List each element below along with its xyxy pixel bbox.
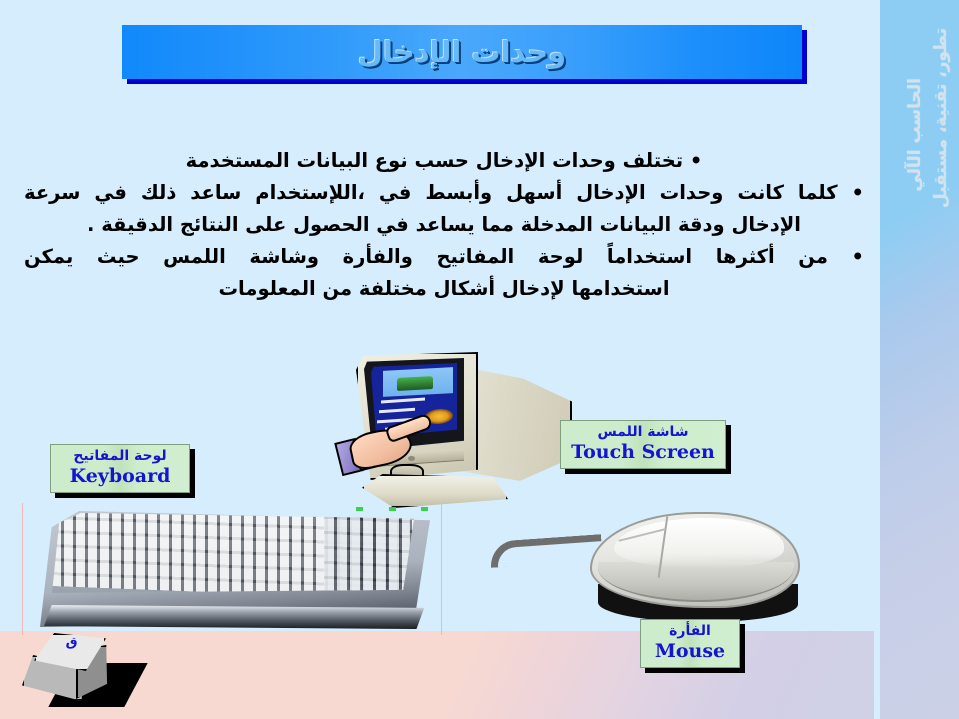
keyboard-led-scrolllock-icon bbox=[421, 507, 428, 511]
caption-touch-screen[interactable]: شاشة اللمس Touch Screen bbox=[560, 420, 726, 469]
title-bar: وحدات الإدخال bbox=[122, 25, 802, 79]
bullet-line-3-cont: استخدامها لإدخال أشكال مختلفة من المعلوم… bbox=[24, 274, 864, 304]
caption-keyboard[interactable]: لوحة المفاتيح Keyboard bbox=[50, 444, 190, 493]
sidebar-panel: تطور، تقنية، مستقبل الحاسب الآلي bbox=[880, 0, 959, 719]
large-keycap-illustration: ق bbox=[20, 633, 140, 713]
screen-food-image bbox=[397, 376, 433, 391]
keyboard-illustration bbox=[22, 503, 442, 635]
caption-mouse[interactable]: الفأرة Mouse bbox=[640, 619, 740, 668]
caption-touch-screen-english: Touch Screen bbox=[567, 442, 719, 464]
sidebar-text-line2: الحاسب الآلي bbox=[905, 78, 925, 192]
keycap-glyph: ق bbox=[65, 634, 78, 650]
screen-text-line-1 bbox=[381, 397, 425, 403]
caption-touch-screen-arabic: شاشة اللمس bbox=[567, 424, 719, 440]
caption-mouse-arabic: الفأرة bbox=[647, 623, 733, 639]
keyboard-front-edge bbox=[44, 605, 428, 629]
bullet-line-2-cont: الإدخال ودقة البيانات المدخلة مما يساعد … bbox=[24, 210, 864, 240]
page-title: وحدات الإدخال bbox=[358, 35, 566, 69]
touch-screen-monitor-illustration bbox=[350, 352, 580, 527]
keyboard-key-deck bbox=[52, 513, 414, 593]
bullet-line-2: • كلما كانت وحدات الإدخال أسهل وأبسط في … bbox=[24, 178, 864, 208]
keyboard-led-capslock-icon bbox=[389, 507, 396, 511]
keyboard-led-indicators bbox=[356, 507, 428, 514]
caption-mouse-english: Mouse bbox=[647, 641, 733, 663]
bullet-line-1: • تختلف وحدات الإدخال حسب نوع البيانات ا… bbox=[24, 146, 864, 176]
body-text-block: • تختلف وحدات الإدخال حسب نوع البيانات ا… bbox=[24, 146, 864, 306]
keyboard-led-numlock-icon bbox=[356, 507, 363, 511]
pointing-hand-illustration bbox=[350, 418, 434, 470]
caption-keyboard-english: Keyboard bbox=[57, 466, 183, 488]
sidebar-text-line1: تطور، تقنية، مستقبل bbox=[931, 28, 951, 208]
slide-canvas: تطور، تقنية، مستقبل الحاسب الآلي وحدات ا… bbox=[0, 0, 959, 719]
mouse-illustration bbox=[580, 500, 810, 628]
screen-text-line-2 bbox=[379, 408, 415, 414]
keyboard-numpad-keys bbox=[324, 513, 410, 593]
bullet-line-3: • من أكثرها استخداماً لوحة المفاتيح والف… bbox=[24, 242, 864, 272]
caption-keyboard-arabic: لوحة المفاتيح bbox=[57, 448, 183, 464]
